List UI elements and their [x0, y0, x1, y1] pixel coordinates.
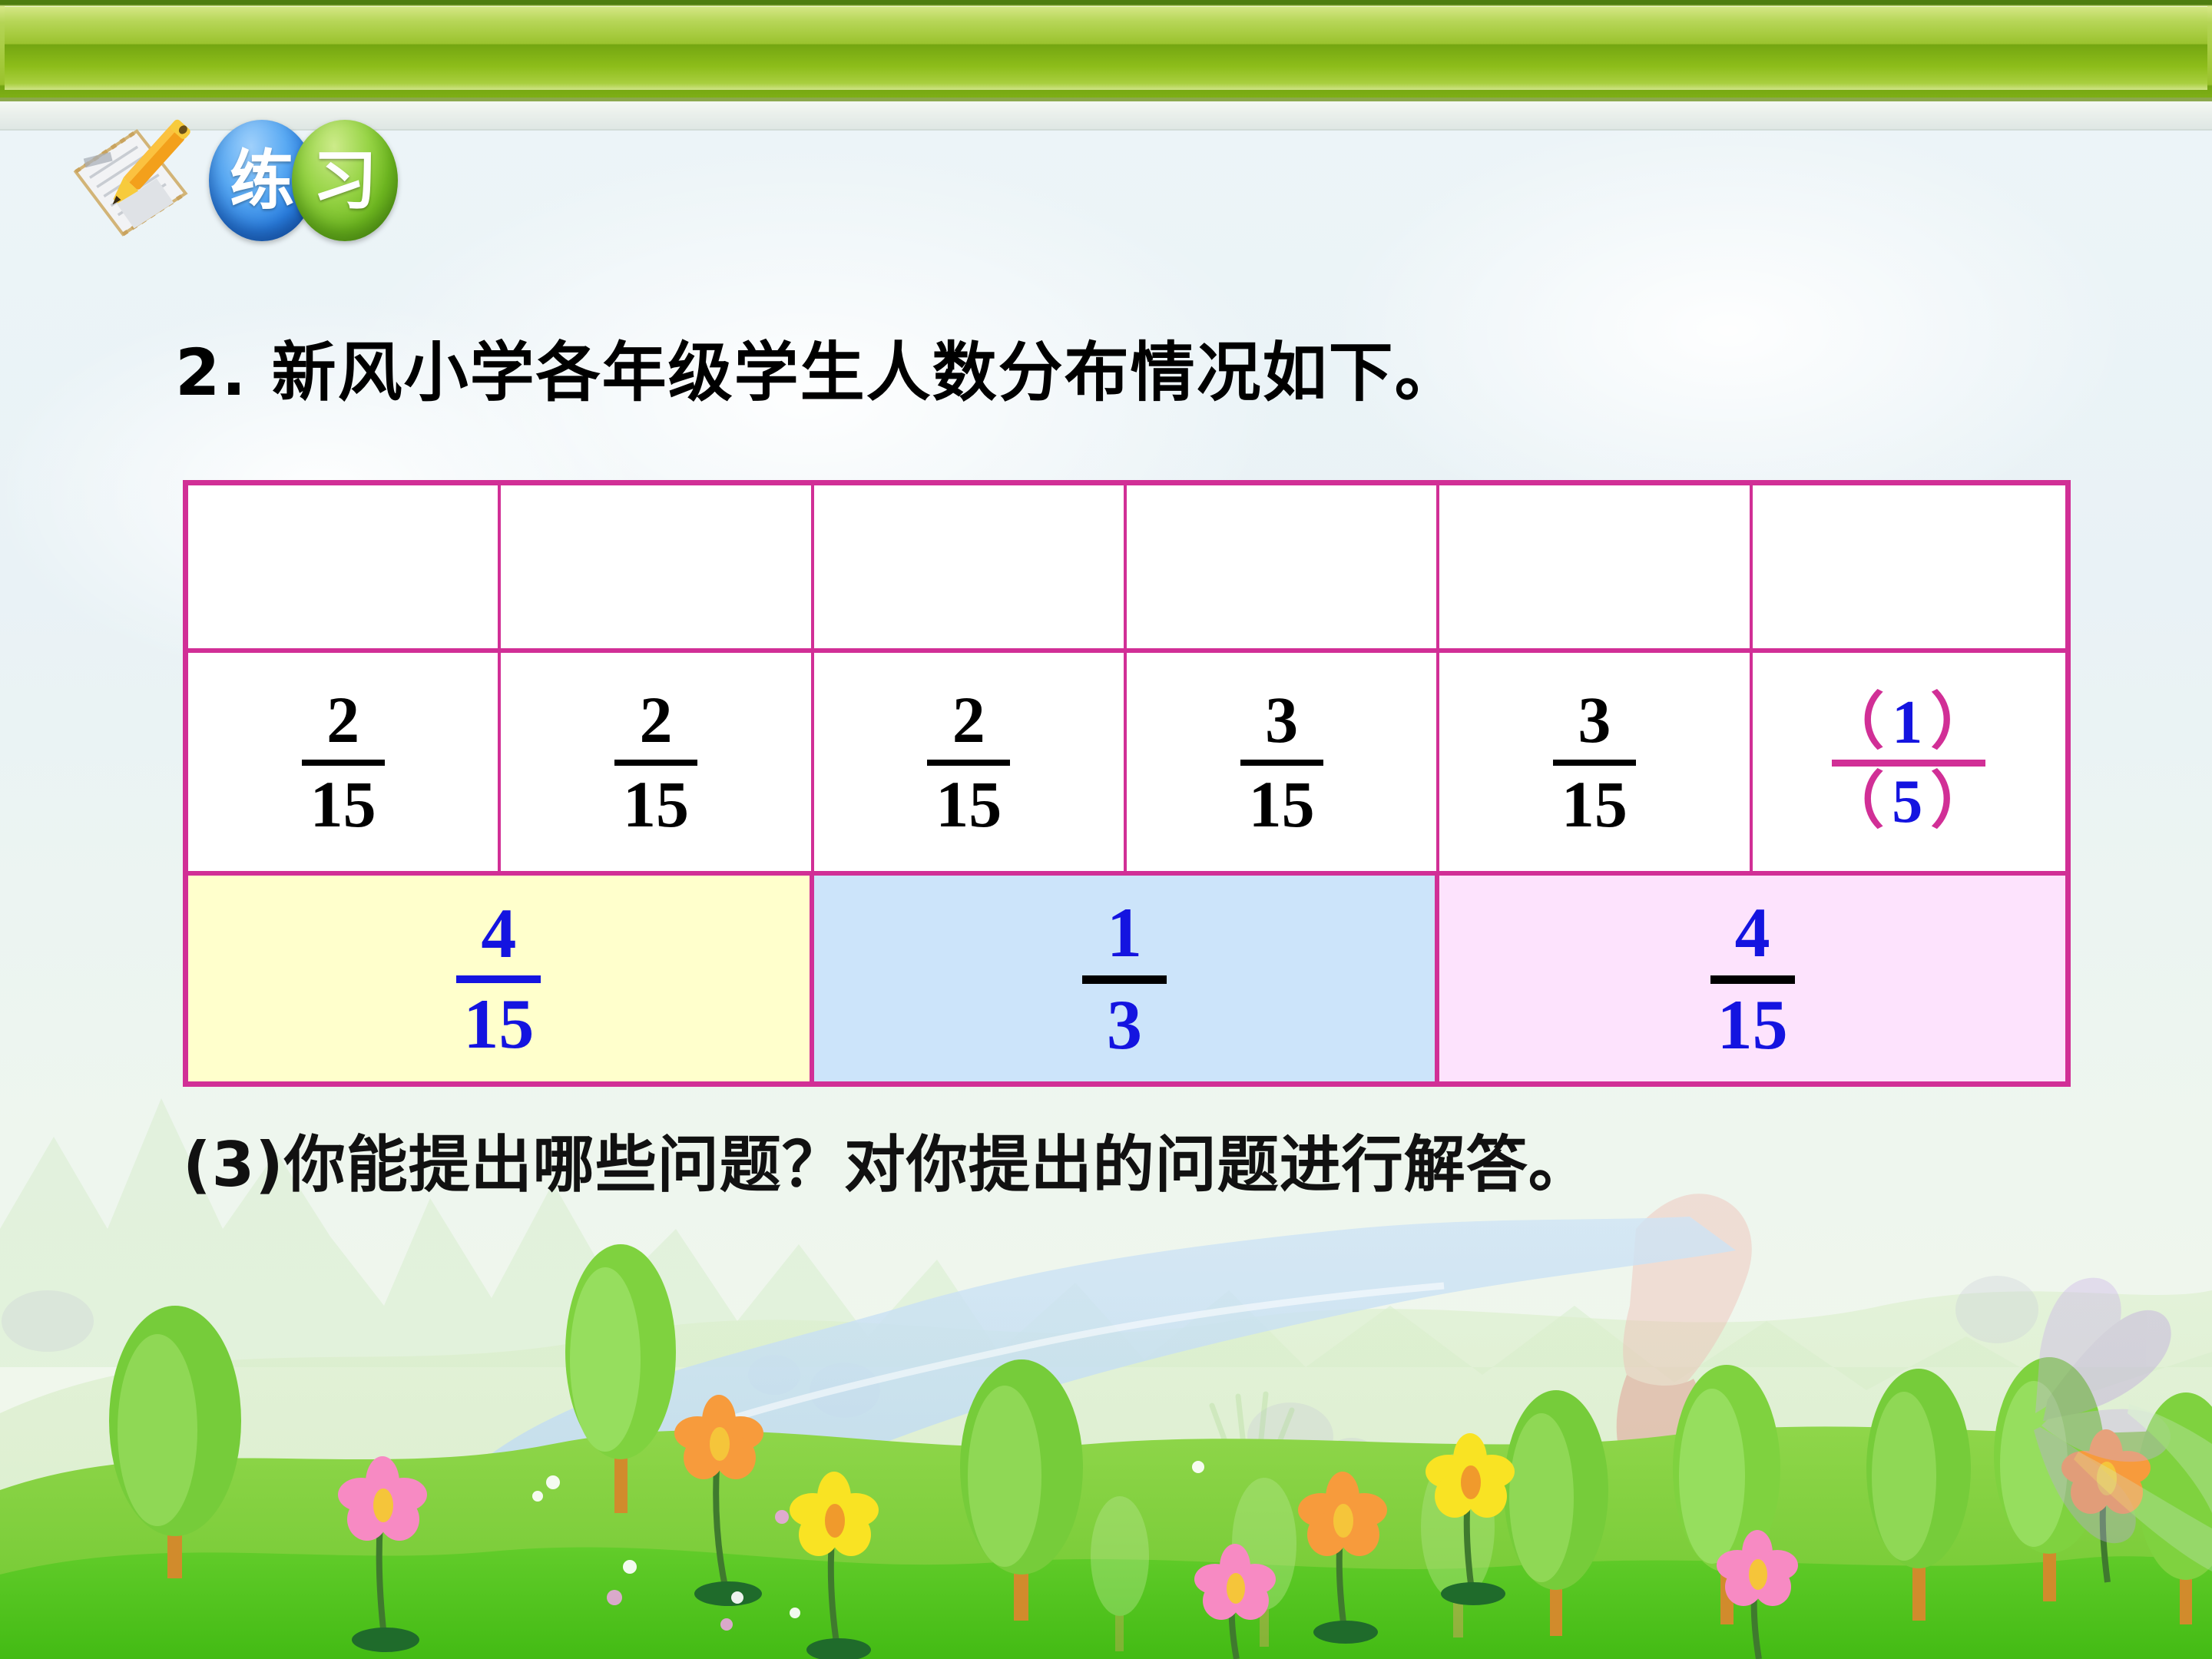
fraction-cell-1: 2 15 — [188, 653, 501, 876]
grouped-fraction-4-15-pink: 4 15 — [1710, 898, 1795, 1058]
paren-close-num: ） — [1930, 689, 1995, 757]
grade-cell-1 — [188, 485, 501, 653]
fraction-cell-6-answer: （1） （5） — [1753, 653, 2065, 876]
grouped-cell-pink: 4 15 — [1439, 876, 2065, 1081]
grouped-fraction-1-3-blue: 1 3 — [1082, 898, 1167, 1058]
table-row-grouped: 4 15 1 3 4 15 — [188, 876, 2065, 1081]
denominator: 15 — [463, 989, 534, 1058]
fraction-cell-5: 3 15 — [1439, 653, 1752, 876]
fraction-bar — [614, 760, 697, 766]
fraction-2-15-c: 2 15 — [927, 687, 1010, 837]
numerator: 4 — [1735, 898, 1770, 967]
grade-cell-3 — [814, 485, 1127, 653]
fraction-3-15-b: 3 15 — [1553, 687, 1636, 837]
fraction-distribution-table: 2 15 2 15 2 15 — [183, 480, 2071, 1087]
denominator: 15 — [1249, 772, 1315, 836]
grade-cell-6 — [1753, 485, 2065, 653]
fraction-bar — [302, 760, 385, 766]
fraction-2-15-b: 2 15 — [614, 687, 697, 837]
fraction-bar — [927, 760, 1010, 766]
numerator: 4 — [481, 899, 516, 968]
denominator: 15 — [1717, 990, 1788, 1059]
denominator: 15 — [310, 772, 376, 836]
fraction-bar — [456, 975, 541, 983]
grade-cell-5 — [1439, 485, 1752, 653]
fraction-cell-2: 2 15 — [501, 653, 813, 876]
grade-cell-4 — [1127, 485, 1439, 653]
grade-cell-2 — [501, 485, 813, 653]
fraction-2-15-a: 2 15 — [302, 687, 385, 837]
paren-open-den: （ — [1823, 768, 1887, 836]
numerator: 3 — [1265, 687, 1298, 752]
fraction-bar — [1710, 975, 1795, 984]
denominator: 15 — [1561, 772, 1628, 836]
fraction-bar — [1082, 975, 1167, 984]
grouped-cell-yellow: 4 15 — [188, 876, 814, 1081]
denominator: 15 — [935, 772, 1002, 836]
fraction-cell-4: 3 15 — [1127, 653, 1439, 876]
numerator: 2 — [639, 687, 672, 752]
grouped-fraction-4-15-yellow: 4 15 — [456, 899, 541, 1058]
answer-denominator: （5） — [1823, 771, 1995, 833]
answer-fraction-1-5: （1） （5） — [1823, 692, 1995, 833]
question-prompt: (3)你能提出哪些问题？对你提出的问题进行解答。 — [183, 1115, 2103, 1204]
denominator: 15 — [623, 772, 689, 836]
table-row-fractions: 2 15 2 15 2 15 — [188, 653, 2065, 876]
fraction-bar — [1553, 760, 1636, 766]
paren-close-den: ） — [1930, 768, 1995, 836]
page-title: 2. 新风小学各年级学生人数分布情况如下。 — [175, 321, 2018, 414]
fraction-cell-3: 2 15 — [814, 653, 1127, 876]
fraction-bar — [1240, 760, 1323, 766]
answer-numerator-value: 1 — [1887, 689, 1930, 757]
fraction-3-15-a: 3 15 — [1240, 687, 1323, 837]
numerator: 3 — [1578, 687, 1611, 752]
numerator: 1 — [1107, 898, 1142, 967]
answer-denominator-value: 5 — [1887, 768, 1930, 836]
numerator: 2 — [326, 687, 359, 752]
denominator: 3 — [1107, 990, 1142, 1059]
paren-open-num: （ — [1823, 689, 1887, 757]
answer-numerator: （1） — [1823, 692, 1995, 753]
answer-fraction-bar — [1832, 760, 1985, 767]
numerator: 2 — [952, 687, 985, 752]
grouped-cell-blue: 1 3 — [814, 876, 1440, 1081]
table-row-grade-labels — [188, 485, 2065, 653]
